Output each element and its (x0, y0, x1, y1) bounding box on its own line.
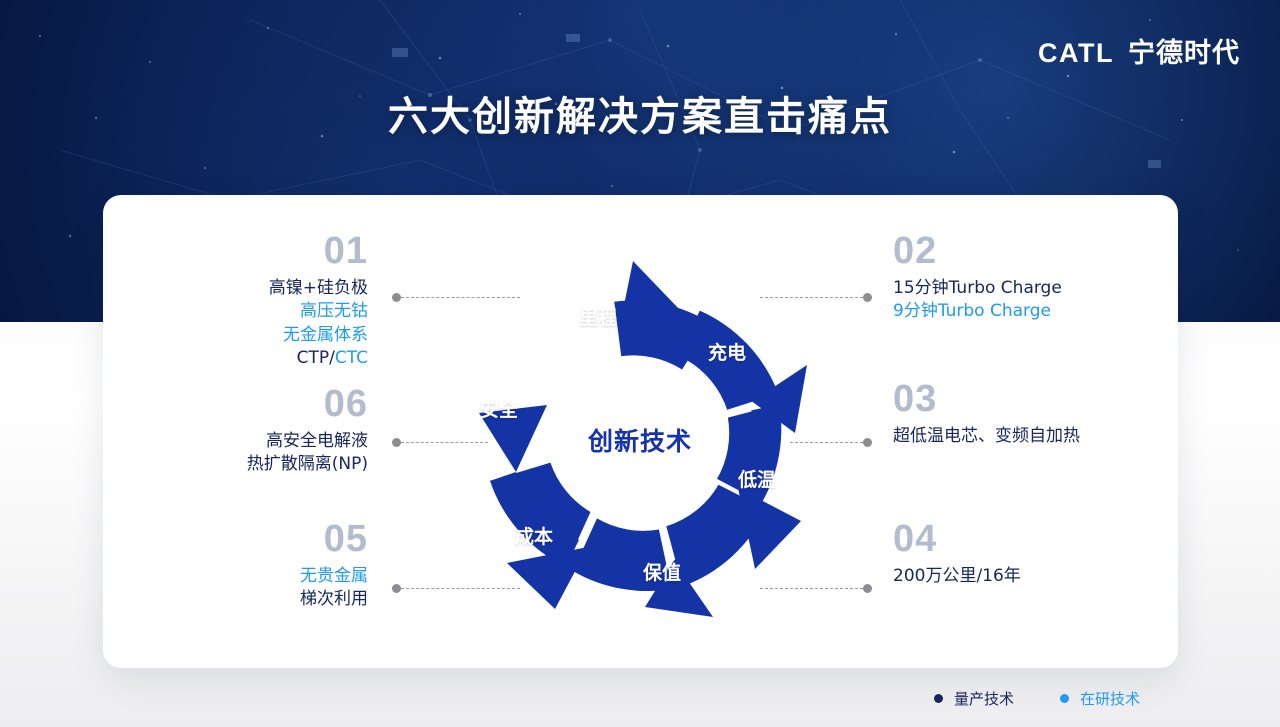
item-lines: 200万公里/16年 (893, 565, 1193, 588)
solution-item-01: 01 高镍+硅负极 高压无钴 无金属体系 CTP/CTC (68, 232, 368, 370)
slide-canvas: CATL 宁德时代 六大创新解决方案直击痛点 (0, 0, 1280, 727)
item-number: 01 (68, 232, 368, 270)
legend-item-under-research: 在研技术 (1060, 688, 1140, 709)
item-line: 无贵金属 (68, 565, 368, 588)
legend-dot-icon (1060, 694, 1069, 703)
item-line: 无金属体系 (68, 324, 368, 347)
legend-item-mass-production: 量产技术 (934, 688, 1014, 709)
cycle-center-label: 创新技术 (455, 422, 825, 458)
item-lines: 超低温电芯、变频自加热 (893, 425, 1193, 448)
cycle-segment-label-5: 安全 (480, 395, 518, 422)
connector-dot (392, 438, 401, 447)
solution-item-02: 02 15分钟Turbo Charge 9分钟Turbo Charge (893, 232, 1193, 324)
connector-dot (863, 293, 872, 302)
legend-dot-icon (934, 694, 943, 703)
solution-item-04: 04 200万公里/16年 (893, 520, 1193, 588)
solution-item-03: 03 超低温电芯、变频自加热 (893, 380, 1193, 448)
legend-label: 在研技术 (1080, 688, 1140, 709)
cycle-segment-label-4: 成本 (515, 522, 553, 549)
logo-chinese-name: 宁德时代 (1128, 40, 1240, 67)
item-lines: 15分钟Turbo Charge 9分钟Turbo Charge (893, 277, 1193, 324)
legend-label: 量产技术 (954, 688, 1014, 709)
item-line: 高安全电解液 (68, 430, 368, 453)
item-lines: 高安全电解液 热扩散隔离(NP) (68, 430, 368, 477)
item-line: 高压无钴 (68, 300, 368, 323)
page-title: 六大创新解决方案直击痛点 (0, 84, 1280, 142)
item-number: 03 (893, 380, 1193, 418)
item-number: 02 (893, 232, 1193, 270)
item-line: 200万公里/16年 (893, 565, 1193, 588)
item-line: CTP/CTC (68, 347, 368, 370)
catl-logo: CATL 宁德时代 (1038, 40, 1240, 67)
item-line: 高镍+硅负极 (68, 277, 368, 300)
logo-wordmark: CATL (1038, 40, 1114, 67)
connector-dot (863, 584, 872, 593)
item-number: 04 (893, 520, 1193, 558)
solution-item-06: 06 高安全电解液 热扩散隔离(NP) (68, 385, 368, 477)
cycle-segment-label-0: 里程 (579, 303, 617, 330)
item-line: 15分钟Turbo Charge (893, 277, 1193, 300)
item-lines: 无贵金属 梯次利用 (68, 565, 368, 612)
item-line: 梯次利用 (68, 588, 368, 611)
item-line: 超低温电芯、变频自加热 (893, 425, 1193, 448)
solution-item-05: 05 无贵金属 梯次利用 (68, 520, 368, 612)
innovation-cycle-diagram: 里程 充电 低温 保值 成本 安全 创新技术 (455, 247, 825, 647)
item-line: 9分钟Turbo Charge (893, 300, 1193, 323)
item-lines: 高镍+硅负极 高压无钴 无金属体系 CTP/CTC (68, 277, 368, 370)
cycle-segment-label-3: 保值 (643, 558, 681, 585)
cycle-segment-label-2: 低温 (738, 465, 776, 492)
legend: 量产技术 在研技术 (934, 688, 1140, 709)
item-line-part-blue: CTC (335, 348, 368, 368)
item-number: 05 (68, 520, 368, 558)
connector-dot (392, 584, 401, 593)
item-line: 热扩散隔离(NP) (68, 453, 368, 476)
cycle-segment-label-1: 充电 (708, 338, 746, 365)
item-number: 06 (68, 385, 368, 423)
item-line-part-dark: CTP/ (297, 348, 335, 368)
connector-dot (863, 438, 872, 447)
connector-dot (392, 293, 401, 302)
